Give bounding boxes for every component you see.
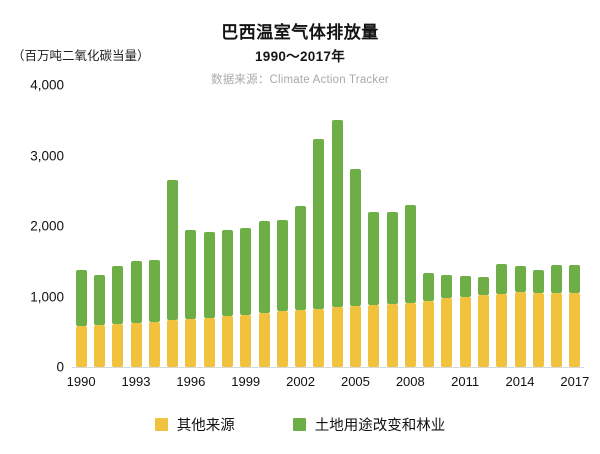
bar-segment-other-sources-2011: [460, 297, 471, 368]
legend-item-other-sources[interactable]: 其他来源: [155, 414, 235, 435]
bar-segment-land-use-2003: [313, 139, 324, 308]
bar-segment-other-sources-1993: [131, 323, 142, 367]
bar-segment-land-use-2010: [441, 275, 452, 298]
bar-2007[interactable]: [387, 212, 398, 367]
bar-segment-other-sources-2001: [277, 311, 288, 367]
bar-segment-other-sources-1992: [112, 324, 123, 367]
y-tick-3000: 3,000: [30, 148, 64, 163]
bar-segment-land-use-2016: [551, 265, 562, 293]
legend-label-land-use: 土地用途改变和林业: [315, 414, 446, 435]
bar-1992[interactable]: [112, 265, 123, 367]
bar-segment-other-sources-1998: [222, 316, 233, 367]
bar-segment-land-use-2014: [515, 266, 526, 293]
bar-segment-other-sources-1990: [76, 326, 87, 367]
plot-area: [72, 85, 584, 367]
bar-2006[interactable]: [368, 212, 379, 367]
bar-segment-other-sources-2002: [295, 310, 306, 367]
x-tick-2017: 2017: [560, 374, 589, 389]
x-tick-1990: 1990: [67, 374, 96, 389]
bar-2010[interactable]: [441, 275, 452, 367]
bar-1997[interactable]: [204, 232, 215, 367]
bar-segment-other-sources-2005: [350, 306, 361, 367]
bar-segment-land-use-2011: [460, 276, 471, 297]
chart-root: 巴西温室气体排放量 1990～2017年 数据来源：Climate Action…: [0, 0, 600, 454]
bar-segment-land-use-2006: [368, 212, 379, 305]
bar-segment-land-use-1999: [240, 228, 251, 315]
bar-1993[interactable]: [131, 261, 142, 367]
bar-1999[interactable]: [240, 228, 251, 367]
bar-segment-other-sources-2004: [332, 307, 343, 367]
x-tick-2014: 2014: [506, 374, 535, 389]
bar-1998[interactable]: [222, 230, 233, 367]
bar-1996[interactable]: [185, 230, 196, 367]
bar-2015[interactable]: [533, 270, 544, 367]
bar-segment-land-use-2000: [259, 221, 270, 313]
bar-2004[interactable]: [332, 120, 343, 367]
bar-segment-other-sources-2012: [478, 295, 489, 367]
bar-2014[interactable]: [515, 265, 526, 367]
y-axis-unit-label: （百万吨二氧化碳当量）: [12, 45, 150, 64]
bar-segment-other-sources-2016: [551, 293, 562, 367]
bar-segment-other-sources-1995: [167, 320, 178, 367]
bar-segment-other-sources-2015: [533, 293, 544, 367]
bar-segment-land-use-1997: [204, 232, 215, 318]
x-tick-1999: 1999: [231, 374, 260, 389]
y-tick-0: 0: [56, 360, 64, 375]
bar-segment-other-sources-2003: [313, 309, 324, 368]
bar-1994[interactable]: [149, 260, 160, 368]
x-tick-2011: 2011: [451, 374, 479, 389]
legend-item-land-use[interactable]: 土地用途改变和林业: [293, 414, 446, 435]
bar-segment-other-sources-2006: [368, 305, 379, 367]
bar-segment-land-use-2012: [478, 277, 489, 295]
bar-1995[interactable]: [167, 180, 178, 367]
bar-segment-other-sources-1994: [149, 322, 160, 367]
bar-segment-other-sources-2014: [515, 292, 526, 367]
x-tick-2005: 2005: [341, 374, 370, 389]
bar-2017[interactable]: [569, 265, 580, 367]
bar-2002[interactable]: [295, 206, 306, 367]
bar-segment-other-sources-2009: [423, 301, 434, 367]
legend-label-other-sources: 其他来源: [177, 414, 235, 435]
bar-segment-land-use-1992: [112, 266, 123, 325]
legend-swatch-other-sources: [155, 418, 168, 431]
x-axis-tick-labels: 1990199319961999200220052008201120142017: [0, 374, 600, 394]
bar-segment-land-use-1990: [76, 270, 87, 326]
bar-segment-land-use-1996: [185, 230, 196, 319]
bar-segment-land-use-2015: [533, 270, 544, 293]
bar-segment-land-use-1991: [94, 275, 105, 325]
bar-segment-other-sources-2013: [496, 294, 507, 367]
bar-2009[interactable]: [423, 273, 434, 367]
x-axis-baseline: [72, 367, 584, 368]
bar-2013[interactable]: [496, 264, 507, 367]
bar-segment-land-use-2004: [332, 120, 343, 307]
bar-2012[interactable]: [478, 277, 489, 367]
bar-segment-other-sources-1996: [185, 319, 196, 367]
x-tick-1996: 1996: [176, 374, 205, 389]
y-tick-4000: 4,000: [30, 78, 64, 93]
bar-2011[interactable]: [460, 276, 471, 367]
bar-segment-land-use-1995: [167, 180, 178, 320]
bar-segment-land-use-2009: [423, 273, 434, 301]
bar-segment-other-sources-2017: [569, 293, 580, 367]
bar-segment-other-sources-2007: [387, 304, 398, 367]
bar-2001[interactable]: [277, 220, 288, 367]
bar-segment-other-sources-1997: [204, 318, 215, 367]
y-tick-2000: 2,000: [30, 219, 64, 234]
bar-segment-land-use-2005: [350, 169, 361, 306]
bar-series-container: [72, 85, 584, 367]
y-tick-1000: 1,000: [30, 289, 64, 304]
bar-segment-other-sources-2000: [259, 313, 270, 367]
chart-legend: 其他来源土地用途改变和林业: [0, 414, 600, 435]
bar-segment-land-use-1994: [149, 260, 160, 322]
bar-segment-other-sources-2008: [405, 303, 416, 368]
bar-segment-land-use-2007: [387, 212, 398, 304]
bar-segment-land-use-2008: [405, 205, 416, 303]
bar-1991[interactable]: [94, 275, 105, 367]
x-tick-1993: 1993: [122, 374, 151, 389]
bar-segment-land-use-2017: [569, 265, 580, 293]
bar-2003[interactable]: [313, 139, 324, 367]
bar-segment-land-use-1998: [222, 230, 233, 316]
bar-2008[interactable]: [405, 205, 416, 367]
bar-segment-land-use-1993: [131, 261, 142, 323]
bar-2000[interactable]: [259, 221, 270, 367]
x-tick-2002: 2002: [286, 374, 315, 389]
bar-segment-land-use-2002: [295, 206, 306, 310]
bar-2005[interactable]: [350, 169, 361, 367]
legend-swatch-land-use: [293, 418, 306, 431]
bar-segment-other-sources-1999: [240, 315, 251, 367]
chart-title: 巴西温室气体排放量: [0, 18, 600, 43]
bar-1990[interactable]: [76, 270, 87, 367]
bar-segment-other-sources-1991: [94, 325, 105, 367]
bar-segment-other-sources-2010: [441, 298, 452, 367]
bar-segment-land-use-2001: [277, 220, 288, 312]
x-tick-2008: 2008: [396, 374, 425, 389]
bar-segment-land-use-2013: [496, 264, 507, 294]
y-axis-tick-labels: 01,0002,0003,0004,000: [0, 85, 64, 367]
bar-2016[interactable]: [551, 265, 562, 367]
